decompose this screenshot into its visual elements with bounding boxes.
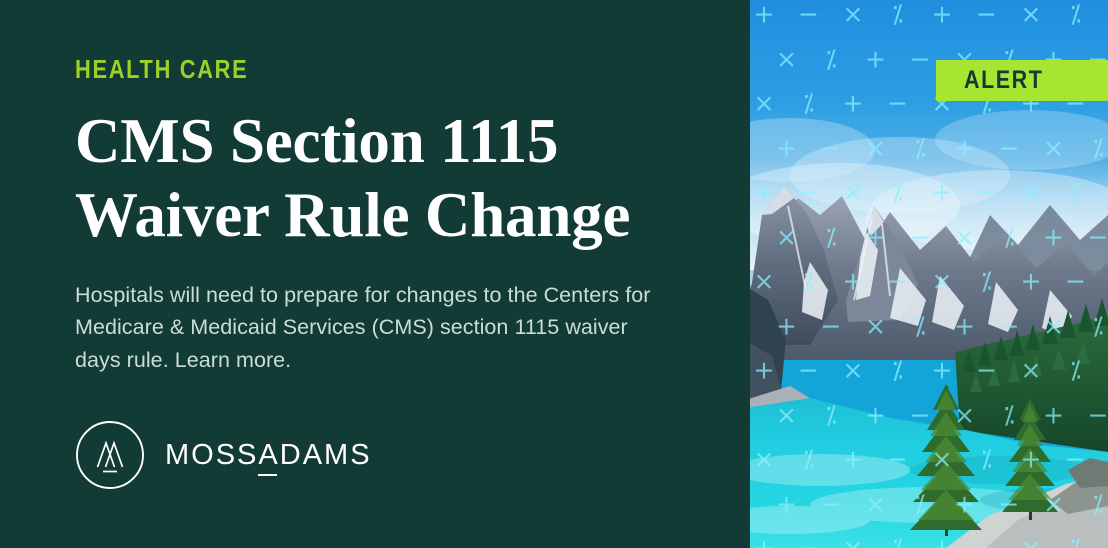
moss-adams-mountain-icon xyxy=(75,420,145,490)
eyebrow-category: HEALTH CARE xyxy=(75,56,592,82)
moss-adams-wordmark: MOSSADAMS xyxy=(165,441,372,470)
headline-line-1: CMS Section 1115 xyxy=(75,104,690,178)
alert-banner: HEALTH CARE CMS Section 1115 Waiver Rule… xyxy=(0,0,1108,548)
page-title: CMS Section 1115 Waiver Rule Change xyxy=(75,104,690,253)
headline-line-2: Waiver Rule Change xyxy=(75,178,690,252)
hero-image-panel: +−×⁒+−×⁒+−×−×⁒+−×⁒+−×⁒×⁒+−×⁒+−×⁒+⁒+−×⁒+−… xyxy=(750,0,1108,548)
wordmark-moss: MOSS xyxy=(165,441,258,470)
text-panel: HEALTH CARE CMS Section 1115 Waiver Rule… xyxy=(0,0,750,548)
wordmark-a: A xyxy=(258,441,279,470)
alert-badge-label: ALERT xyxy=(964,68,1043,93)
wordmark-dams: DAMS xyxy=(280,441,372,470)
alert-badge: ALERT xyxy=(936,60,1108,101)
summary-text: Hospitals will need to prepare for chang… xyxy=(75,279,665,377)
moss-adams-logo[interactable]: MOSSADAMS xyxy=(75,420,372,490)
